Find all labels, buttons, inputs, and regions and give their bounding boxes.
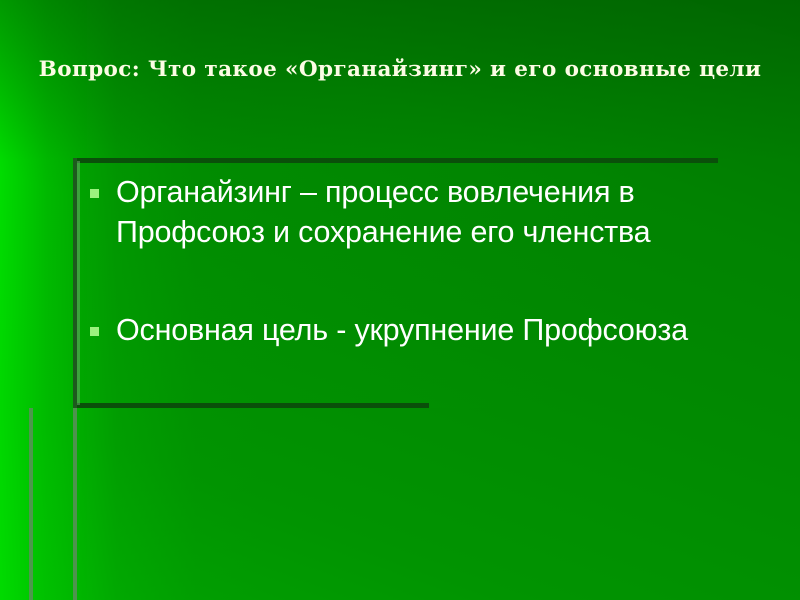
square-bullet-icon	[90, 327, 99, 336]
band-right-stroke	[73, 408, 77, 600]
square-bullet-icon	[90, 189, 99, 198]
bullet-text: Органайзинг – процесс вовлечения в Профс…	[116, 172, 756, 252]
list-item: Органайзинг – процесс вовлечения в Профс…	[90, 172, 790, 252]
content-left-border-highlight	[77, 161, 80, 405]
bullet-list: Органайзинг – процесс вовлечения в Профс…	[90, 172, 790, 350]
presentation-slide: Вопрос: Что такое «Органайзинг» и его ос…	[0, 0, 800, 600]
decorative-vertical-band	[29, 408, 77, 600]
content-top-border	[73, 158, 718, 163]
list-item: Основная цель - укрупнение Профсоюза	[90, 310, 790, 350]
band-fill	[33, 408, 73, 600]
bullet-text: Основная цель - укрупнение Профсоюза	[116, 310, 688, 350]
content-placeholder: Органайзинг – процесс вовлечения в Профс…	[73, 158, 800, 408]
content-bottom-border	[73, 403, 429, 408]
slide-title: Вопрос: Что такое «Органайзинг» и его ос…	[0, 56, 800, 84]
